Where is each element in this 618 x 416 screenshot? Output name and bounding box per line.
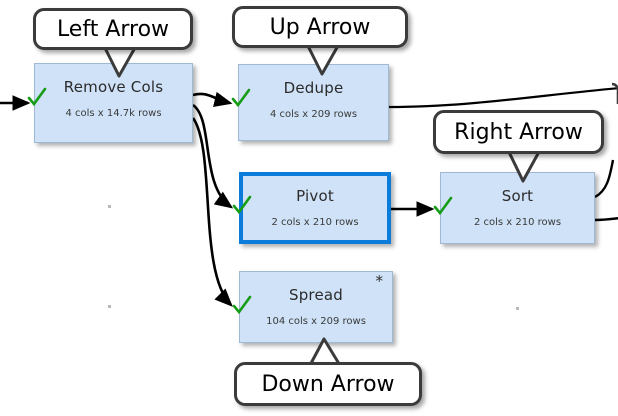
callout-right-arrow[interactable]: Right Arrow [433, 110, 604, 154]
grid-dot [108, 305, 111, 308]
edge-sort-to-offscreen-upper [595, 160, 613, 197]
node-title: Spread [240, 286, 392, 304]
callout-up-arrow[interactable]: Up Arrow [232, 6, 408, 48]
node-dedupe[interactable]: Dedupe 4 cols x 209 rows [238, 64, 389, 141]
callout-label: Left Arrow [57, 17, 169, 42]
check-icon [26, 86, 48, 108]
node-subtitle: 2 cols x 210 rows [441, 217, 594, 228]
node-subtitle: 2 cols x 210 rows [243, 217, 387, 228]
node-title: Dedupe [239, 79, 388, 97]
node-remove-cols[interactable]: Remove Cols 4 cols x 14.7k rows [34, 63, 193, 143]
callout-label: Up Arrow [270, 15, 371, 40]
callout-left-arrow[interactable]: Left Arrow [33, 8, 193, 50]
callout-label: Down Arrow [261, 372, 394, 397]
edge-remove-cols-to-spread [193, 118, 231, 305]
node-subtitle: 104 cols x 209 rows [240, 316, 392, 327]
grid-dot [516, 307, 519, 310]
edge-remove-cols-to-pivot [193, 105, 231, 207]
node-subtitle: 4 cols x 14.7k rows [35, 108, 192, 119]
callout-label: Right Arrow [454, 120, 583, 145]
check-icon [230, 87, 252, 109]
edge-remove-cols-to-dedupe [193, 94, 230, 103]
grid-dot [108, 205, 111, 208]
check-icon [432, 195, 454, 217]
check-icon [231, 194, 253, 216]
callout-down-arrow[interactable]: Down Arrow [234, 362, 422, 406]
node-title: Pivot [243, 187, 387, 205]
node-subtitle: 4 cols x 209 rows [239, 109, 388, 120]
node-spread[interactable]: Spread 104 cols x 209 rows * [239, 271, 393, 343]
edge-sort-to-offscreen-lower [595, 218, 618, 220]
edge-dedupe-to-offscreen [389, 88, 618, 107]
node-title: Sort [441, 187, 594, 205]
flow-graph-canvas[interactable]: Remove Cols 4 cols x 14.7k rows Dedupe 4… [0, 0, 618, 416]
node-pivot[interactable]: Pivot 2 cols x 210 rows [239, 172, 391, 244]
node-title: Remove Cols [35, 78, 192, 96]
node-sort[interactable]: Sort 2 cols x 210 rows [440, 172, 595, 244]
edge-offscreen-node-stub [612, 84, 618, 104]
check-icon [231, 294, 253, 316]
modified-marker: * [376, 274, 384, 289]
